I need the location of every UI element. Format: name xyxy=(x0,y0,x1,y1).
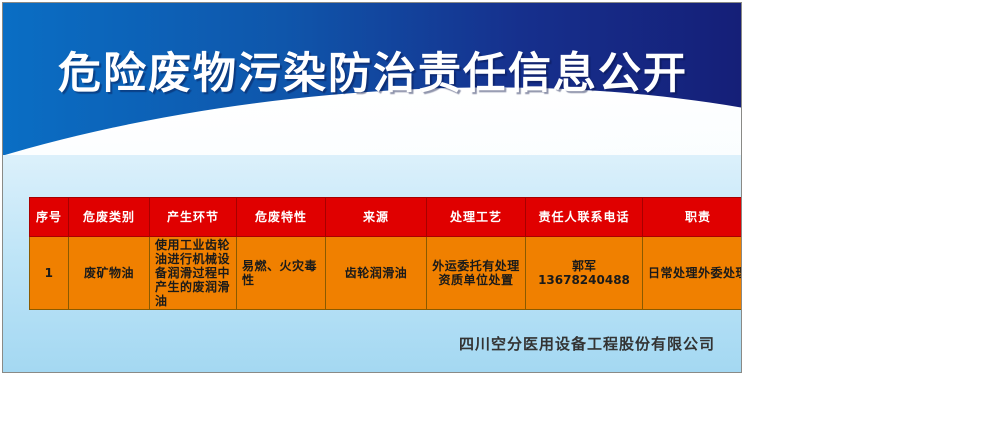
cell-contact: 郭军 13678240488 xyxy=(526,237,643,310)
page-title: 危险废物污染防治责任信息公开 xyxy=(3,49,742,99)
contact-phone-number: 13678240488 xyxy=(528,273,640,287)
column-header-characteristics: 危废特性 xyxy=(237,198,326,237)
column-header-generation: 产生环节 xyxy=(150,198,237,237)
cell-source: 齿轮润滑油 xyxy=(326,237,427,310)
table-header-row: 序号 危废类别 产生环节 危废特性 来源 处理工艺 责任人联系电话 职责 xyxy=(30,198,743,237)
cell-duty: 日常处理外委处理 xyxy=(643,237,743,310)
hazardous-waste-table: 序号 危废类别 产生环节 危废特性 来源 处理工艺 责任人联系电话 职责 1 废… xyxy=(29,197,742,310)
column-header-index: 序号 xyxy=(30,198,69,237)
column-header-category: 危废类别 xyxy=(69,198,150,237)
cell-category: 废矿物油 xyxy=(69,237,150,310)
cell-index: 1 xyxy=(30,237,69,310)
column-header-contact: 责任人联系电话 xyxy=(526,198,643,237)
information-disclosure-poster: 危险废物污染防治责任信息公开 序号 危废类别 产生环节 危废特性 来源 处理工艺… xyxy=(2,2,742,373)
cell-generation-stage: 使用工业齿轮油进行机械设备润滑过程中产生的废润滑油 xyxy=(150,237,237,310)
company-name: 四川空分医用设备工程股份有限公司 xyxy=(3,333,715,354)
column-header-duty: 职责 xyxy=(643,198,743,237)
table-row: 1 废矿物油 使用工业齿轮油进行机械设备润滑过程中产生的废润滑油 易燃、火灾毒性… xyxy=(30,237,743,310)
column-header-source: 来源 xyxy=(326,198,427,237)
cell-characteristics: 易燃、火灾毒性 xyxy=(237,237,326,310)
cell-treatment: 外运委托有处理资质单位处置 xyxy=(427,237,526,310)
column-header-treatment: 处理工艺 xyxy=(427,198,526,237)
contact-person-name: 郭军 xyxy=(528,259,640,273)
